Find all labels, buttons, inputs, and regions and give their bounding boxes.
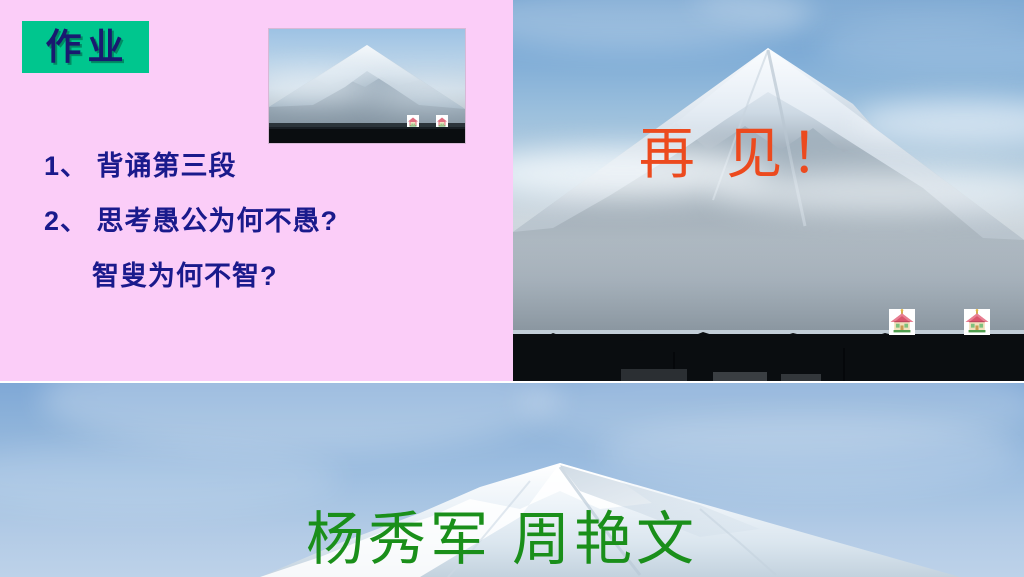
home-icon [407, 115, 419, 127]
homework-panel: 作业 [0, 0, 513, 381]
thumb-treeline [269, 127, 465, 143]
farewell-image-panel: 再 见！ [513, 0, 1024, 381]
utility-pole [843, 348, 845, 381]
homework-item-2: 2、 思考愚公为何不愚? [44, 208, 504, 235]
home-icon [889, 309, 915, 335]
home-icon-right[interactable] [964, 309, 990, 335]
homework-item-1: 1、 背诵第三段 [44, 153, 504, 180]
home-icon [964, 309, 990, 335]
presentation-slide: 作业 [0, 0, 1024, 577]
distant-building [713, 372, 767, 381]
home-icon-left[interactable] [889, 309, 915, 335]
homework-item-3: 智叟为何不智? [44, 263, 504, 290]
home-icon-glyph [407, 116, 419, 128]
distant-building [781, 374, 821, 381]
homework-list: 1、 背诵第三段 2、 思考愚公为何不愚? 智叟为何不智? [44, 153, 504, 318]
valley-haze [513, 240, 1024, 330]
homework-title-label: 作业 [41, 29, 129, 65]
home-icon-glyph [436, 116, 448, 128]
credits-text: 杨秀军 周艳文 [0, 511, 1024, 569]
credits-panel: 杨秀军 周艳文 [0, 383, 1024, 577]
distant-building [621, 369, 687, 381]
home-icon [436, 115, 448, 127]
homework-title-box: 作业 [22, 21, 149, 73]
fuji-thumbnail-image [268, 28, 466, 144]
treeline-tops [513, 322, 1024, 346]
